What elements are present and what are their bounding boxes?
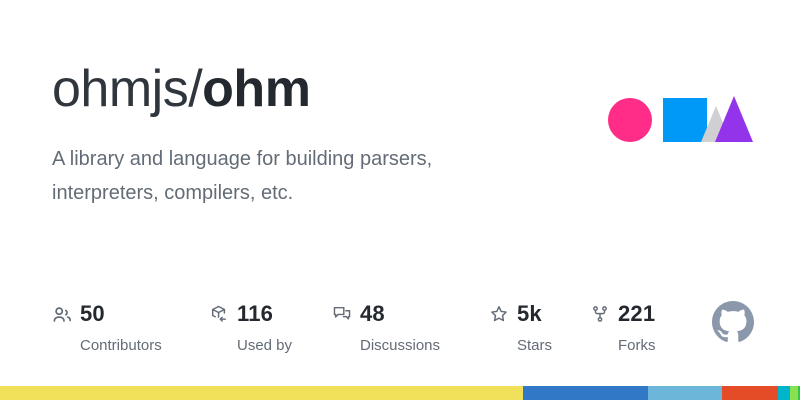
language-segment	[790, 386, 797, 400]
stat-contributors[interactable]: 50 Contributors	[52, 300, 162, 354]
repo-name[interactable]: ohm	[202, 60, 310, 118]
comment-discussion-icon	[332, 304, 352, 324]
stat-label-contributors: Contributors	[80, 338, 162, 354]
stat-stars[interactable]: 5k Stars	[489, 300, 552, 354]
stat-value-stars: 5k	[517, 303, 542, 325]
stat-value-discussions: 48	[360, 303, 385, 325]
language-segment	[523, 386, 648, 400]
logo-circle-shape	[608, 98, 652, 142]
stat-label-forks: Forks	[618, 338, 656, 354]
stat-value-used-by: 116	[237, 303, 273, 325]
people-icon	[52, 304, 72, 324]
language-segment	[0, 386, 523, 400]
github-mark-icon	[712, 301, 754, 343]
stat-value-forks: 221	[618, 303, 655, 325]
stat-label-stars: Stars	[517, 338, 552, 354]
language-segment	[778, 386, 791, 400]
package-icon	[209, 304, 229, 324]
page-title: ohmjs/ohm	[52, 58, 310, 120]
repo-owner[interactable]: ohmjs	[52, 60, 188, 118]
ohm-logo	[608, 94, 753, 144]
stat-forks[interactable]: 221 Forks	[590, 300, 656, 354]
language-segment	[648, 386, 722, 400]
repo-social-preview-card: ohmjs/ohm A library and language for bui…	[0, 0, 800, 400]
language-bar	[0, 386, 800, 400]
stat-used-by[interactable]: 116 Used by	[209, 300, 292, 354]
repo-description: A library and language for building pars…	[52, 142, 522, 210]
stat-label-discussions: Discussions	[360, 338, 440, 354]
stat-discussions[interactable]: 48 Discussions	[332, 300, 440, 354]
repo-forked-icon	[590, 304, 610, 324]
stat-value-contributors: 50	[80, 303, 105, 325]
star-icon	[489, 304, 509, 324]
logo-square-shape	[663, 98, 707, 142]
stat-label-used-by: Used by	[237, 338, 292, 354]
language-segment	[722, 386, 777, 400]
repo-separator: /	[188, 60, 202, 118]
repo-stats: 50 Contributors	[52, 300, 752, 362]
